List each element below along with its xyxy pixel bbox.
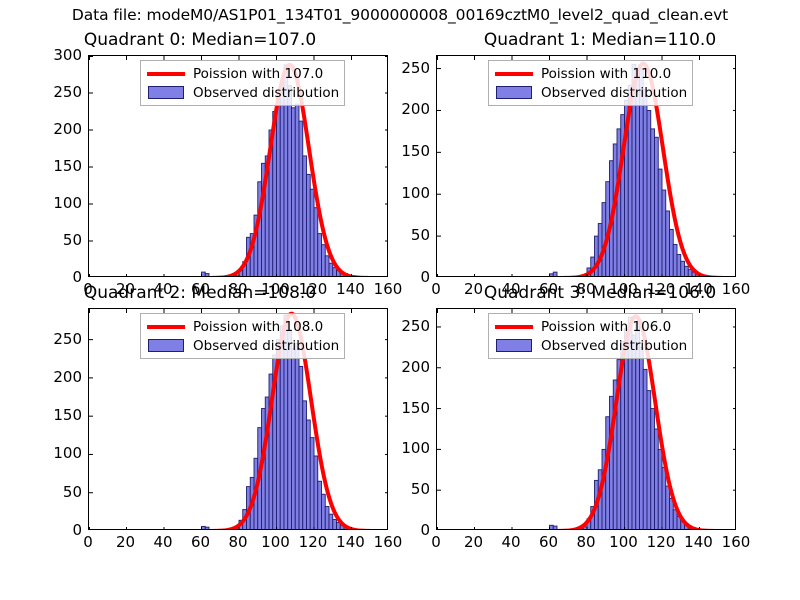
x-tick-label: 40 [143, 533, 183, 551]
legend-label: Observed distribution [193, 338, 339, 354]
legend-patch-icon [496, 339, 532, 352]
y-tick-label: 150 [380, 399, 430, 417]
legend-line-icon [495, 325, 533, 329]
y-tick-label: 100 [380, 439, 430, 457]
y-tick-label: 100 [32, 194, 82, 212]
x-tick-label: 40 [491, 533, 531, 551]
legend-line-swatch [146, 65, 186, 82]
legend-line-icon [495, 72, 533, 76]
chart-legend: Poission with 106.0Observed distribution [488, 313, 693, 359]
y-tick-label: 250 [32, 83, 82, 101]
y-tick-label: 200 [380, 358, 430, 376]
x-tick-label: 140 [331, 533, 371, 551]
subplot-title: Quadrant 2: Median=108.0 [0, 283, 400, 303]
y-tick-label: 150 [32, 157, 82, 175]
legend-line-swatch [146, 318, 186, 335]
subplot-quadrant-3: Quadrant 3: Median=106.00501001502002500… [400, 283, 800, 553]
subplot-title: Quadrant 3: Median=106.0 [400, 283, 800, 303]
y-tick-label: 50 [32, 483, 82, 501]
x-tick-label: 0 [416, 533, 456, 551]
chart-legend: Poission with 110.0Observed distribution [488, 60, 693, 106]
y-tick-label: 50 [380, 226, 430, 244]
histogram-bar [700, 529, 704, 530]
x-tick-label: 0 [68, 533, 108, 551]
legend-entry[interactable]: Observed distribution [494, 336, 687, 355]
y-tick-label: 200 [32, 120, 82, 138]
legend-line-swatch [494, 318, 534, 335]
legend-entry[interactable]: Poission with 106.0 [494, 317, 687, 336]
y-tick-label: 250 [32, 330, 82, 348]
chart-legend: Poission with 107.0Observed distribution [140, 60, 345, 106]
legend-label: Poission with 110.0 [541, 66, 671, 82]
legend-patch-swatch [146, 337, 186, 354]
x-tick-label: 20 [454, 533, 494, 551]
histogram-bar [707, 276, 711, 277]
legend-entry[interactable]: Observed distribution [146, 336, 339, 355]
histogram-bar [355, 529, 359, 530]
histogram-bar [703, 529, 707, 530]
legend-label: Poission with 108.0 [193, 319, 323, 335]
x-tick-label: 100 [256, 533, 296, 551]
histogram-bar [359, 529, 363, 530]
legend-entry[interactable]: Poission with 107.0 [146, 64, 339, 83]
histogram-bar [703, 276, 707, 277]
chart-legend: Poission with 108.0Observed distribution [140, 313, 345, 359]
legend-label: Poission with 107.0 [193, 66, 323, 82]
y-tick-label: 150 [380, 142, 430, 160]
x-tick-label: 20 [106, 533, 146, 551]
x-tick-label: 120 [293, 533, 333, 551]
subplot-title: Quadrant 1: Median=110.0 [400, 30, 800, 50]
legend-line-swatch [494, 65, 534, 82]
legend-entry[interactable]: Poission with 108.0 [146, 317, 339, 336]
legend-patch-icon [148, 86, 184, 99]
legend-label: Observed distribution [541, 85, 687, 101]
x-tick-label: 80 [566, 533, 606, 551]
subplot-quadrant-1: Quadrant 1: Median=110.00501001502002500… [400, 30, 800, 300]
legend-patch-icon [496, 86, 532, 99]
y-tick-label: 100 [32, 444, 82, 462]
x-tick-label: 120 [641, 533, 681, 551]
y-tick-label: 50 [380, 480, 430, 498]
subplot-quadrant-2: Quadrant 2: Median=108.00501001502002500… [0, 283, 400, 553]
legend-label: Poission with 106.0 [541, 319, 671, 335]
y-tick-label: 50 [32, 231, 82, 249]
x-tick-label: 100 [604, 533, 644, 551]
x-tick-label: 160 [716, 533, 756, 551]
legend-patch-icon [148, 339, 184, 352]
matplotlib-figure: Data file: modeM0/AS1P01_134T01_90000000… [0, 0, 800, 600]
y-tick-label: 200 [32, 368, 82, 386]
legend-entry[interactable]: Poission with 110.0 [494, 64, 687, 83]
legend-label: Observed distribution [193, 85, 339, 101]
legend-patch-swatch [494, 84, 534, 101]
legend-entry[interactable]: Observed distribution [146, 83, 339, 102]
subplot-quadrant-0: Quadrant 0: Median=107.00501001502002503… [0, 30, 400, 300]
y-tick-label: 100 [380, 184, 430, 202]
x-tick-label: 80 [218, 533, 258, 551]
legend-patch-swatch [494, 337, 534, 354]
legend-label: Observed distribution [541, 338, 687, 354]
x-tick-label: 140 [679, 533, 719, 551]
y-tick-label: 300 [32, 46, 82, 64]
figure-suptitle: Data file: modeM0/AS1P01_134T01_90000000… [0, 6, 800, 24]
y-tick-label: 250 [380, 317, 430, 335]
histogram-bar [580, 276, 584, 277]
legend-line-icon [147, 72, 185, 76]
legend-line-icon [147, 325, 185, 329]
y-tick-label: 250 [380, 59, 430, 77]
x-tick-label: 60 [529, 533, 569, 551]
legend-entry[interactable]: Observed distribution [494, 83, 687, 102]
x-tick-label: 60 [181, 533, 221, 551]
y-tick-label: 150 [32, 406, 82, 424]
legend-patch-swatch [146, 84, 186, 101]
y-tick-label: 200 [380, 100, 430, 118]
